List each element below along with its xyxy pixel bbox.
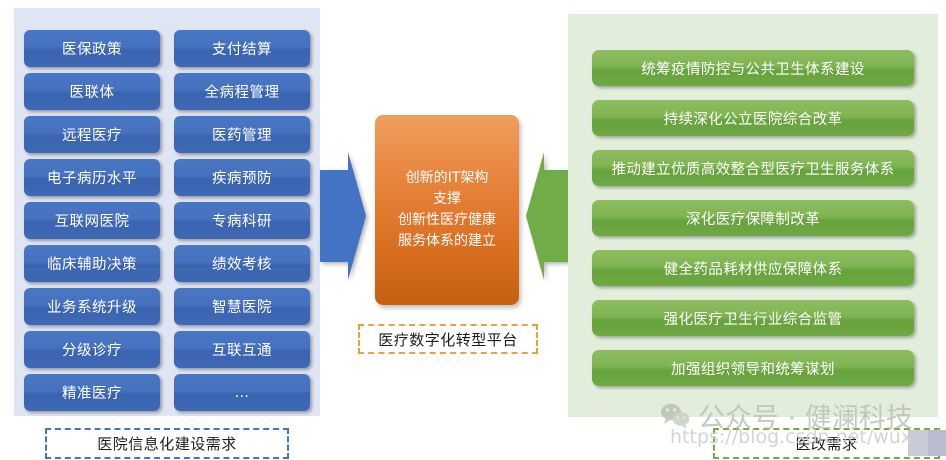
left-item-10[interactable]: 全病程管理: [174, 73, 310, 110]
left-item-8[interactable]: 精准医疗: [24, 374, 160, 411]
right-item-5[interactable]: 强化医疗卫生行业综合监管: [592, 300, 914, 336]
center-caption: 医疗数字化转型平台: [358, 324, 538, 354]
left-item-3[interactable]: 电子病历水平: [24, 159, 160, 196]
right-panel-caption: 医改需求: [713, 428, 940, 459]
left-item-1[interactable]: 医联体: [24, 73, 160, 110]
right-item-4[interactable]: 健全药品耗材供应保障体系: [592, 250, 914, 286]
left-item-9[interactable]: 支付结算: [174, 30, 310, 67]
left-panel: 医保政策 医联体 远程医疗 电子病历水平 互联网医院 临床辅助决策 业务系统升级…: [14, 8, 320, 416]
left-item-0[interactable]: 医保政策: [24, 30, 160, 67]
left-arrow-icon: [524, 152, 574, 280]
left-column-2: 支付结算 全病程管理 医药管理 疾病预防 专病科研 绩效考核 智慧医院 互联互通…: [174, 30, 310, 417]
left-item-17[interactable]: …: [174, 374, 310, 411]
right-item-6[interactable]: 加强组织领导和统筹谋划: [592, 350, 914, 386]
left-item-12[interactable]: 疾病预防: [174, 159, 310, 196]
left-item-16[interactable]: 互联互通: [174, 331, 310, 368]
left-item-4[interactable]: 互联网医院: [24, 202, 160, 239]
left-item-5[interactable]: 临床辅助决策: [24, 245, 160, 282]
left-item-7[interactable]: 分级诊疗: [24, 331, 160, 368]
right-item-0[interactable]: 统筹疫情防控与公共卫生体系建设: [592, 50, 914, 86]
left-item-6[interactable]: 业务系统升级: [24, 288, 160, 325]
right-item-2[interactable]: 推动建立优质高效整合型医疗卫生服务体系: [592, 150, 914, 186]
center-line-2: 创新性医疗健康: [398, 210, 496, 231]
right-item-1[interactable]: 持续深化公立医院综合改革: [592, 100, 914, 136]
right-item-3[interactable]: 深化医疗保障制改革: [592, 200, 914, 236]
right-panel: 统筹疫情防控与公共卫生体系建设 持续深化公立医院综合改革 推动建立优质高效整合型…: [568, 14, 938, 417]
left-item-11[interactable]: 医药管理: [174, 116, 310, 153]
left-item-13[interactable]: 专病科研: [174, 202, 310, 239]
right-column: 统筹疫情防控与公共卫生体系建设 持续深化公立医院综合改革 推动建立优质高效整合型…: [592, 50, 914, 400]
left-item-14[interactable]: 绩效考核: [174, 245, 310, 282]
left-column-1: 医保政策 医联体 远程医疗 电子病历水平 互联网医院 临床辅助决策 业务系统升级…: [24, 30, 160, 417]
left-item-15[interactable]: 智慧医院: [174, 288, 310, 325]
center-line-3: 服务体系的建立: [398, 231, 496, 252]
center-line-0: 创新的IT架构: [406, 168, 489, 189]
diagram-canvas: 医保政策 医联体 远程医疗 电子病历水平 互联网医院 临床辅助决策 业务系统升级…: [0, 0, 946, 460]
left-item-2[interactable]: 远程医疗: [24, 116, 160, 153]
left-panel-caption: 医院信息化建设需求: [45, 428, 289, 459]
center-line-1: 支撑: [433, 189, 461, 210]
center-platform-box[interactable]: 创新的IT架构 支撑 创新性医疗健康 服务体系的建立: [375, 115, 519, 305]
right-arrow-icon: [318, 152, 368, 280]
